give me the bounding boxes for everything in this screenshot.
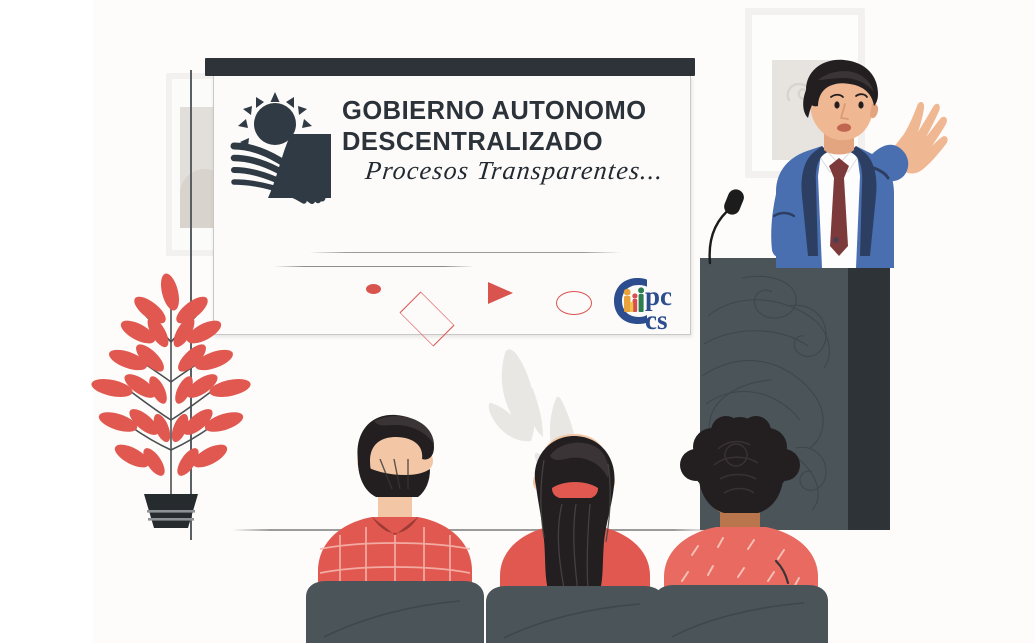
cpccs-text-bottom: cs: [645, 305, 668, 335]
slide-title-line-2: DESCENTRALIZADO: [342, 127, 682, 158]
projection-screen: GOBIERNO AUTONOMO DESCENTRALIZADO Proces…: [205, 58, 695, 340]
illustration-scene: GOBIERNO AUTONOMO DESCENTRALIZADO Proces…: [0, 0, 1035, 643]
slide-title-line-1: GOBIERNO AUTONOMO: [342, 96, 682, 127]
slide-divider-1: [309, 252, 621, 253]
lectern-side-panel: [848, 258, 890, 530]
presenter: [718, 60, 948, 270]
slide-divider-2: [274, 266, 474, 267]
dot-shape: [366, 284, 381, 294]
diamond-shape: [400, 292, 455, 347]
slide-subtitle: Procesos Transparentes...: [340, 156, 688, 186]
screen-top-bar: [205, 58, 695, 76]
sun-hill-logo-icon: [232, 90, 342, 202]
audience-member-2: [480, 430, 670, 643]
potted-plant: [92, 270, 250, 530]
slide-board: GOBIERNO AUTONOMO DESCENTRALIZADO Proces…: [213, 76, 691, 335]
cpccs-logo-icon: pc cs: [612, 272, 684, 334]
audience-member-3: [648, 425, 833, 643]
audience-member-1: [300, 415, 490, 643]
triangle-shape: [488, 282, 513, 304]
slide-title: GOBIERNO AUTONOMO DESCENTRALIZADO: [342, 96, 682, 158]
ellipse-shape: [556, 291, 592, 315]
